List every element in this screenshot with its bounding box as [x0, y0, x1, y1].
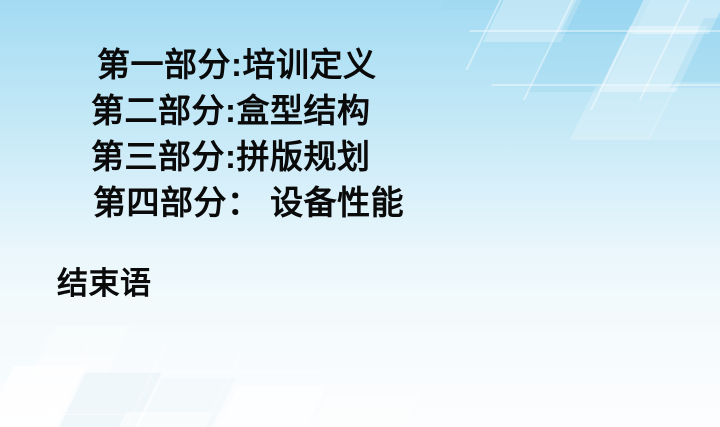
toc-item-part-3: 第三部分:拼版规划	[91, 140, 371, 173]
closing-remarks-label: 结束语	[57, 268, 152, 299]
toc-item-part-1: 第一部分:培训定义	[97, 48, 377, 81]
slide-content: 第一部分:培训定义 第二部分:盒型结构 第三部分:拼版规划 第四部分： 设备性能…	[0, 0, 720, 427]
toc-item-part-2: 第二部分:盒型结构	[91, 94, 371, 127]
toc-item-part-4: 第四部分： 设备性能	[93, 186, 404, 219]
presentation-slide: 第一部分:培训定义 第二部分:盒型结构 第三部分:拼版规划 第四部分： 设备性能…	[0, 0, 720, 427]
